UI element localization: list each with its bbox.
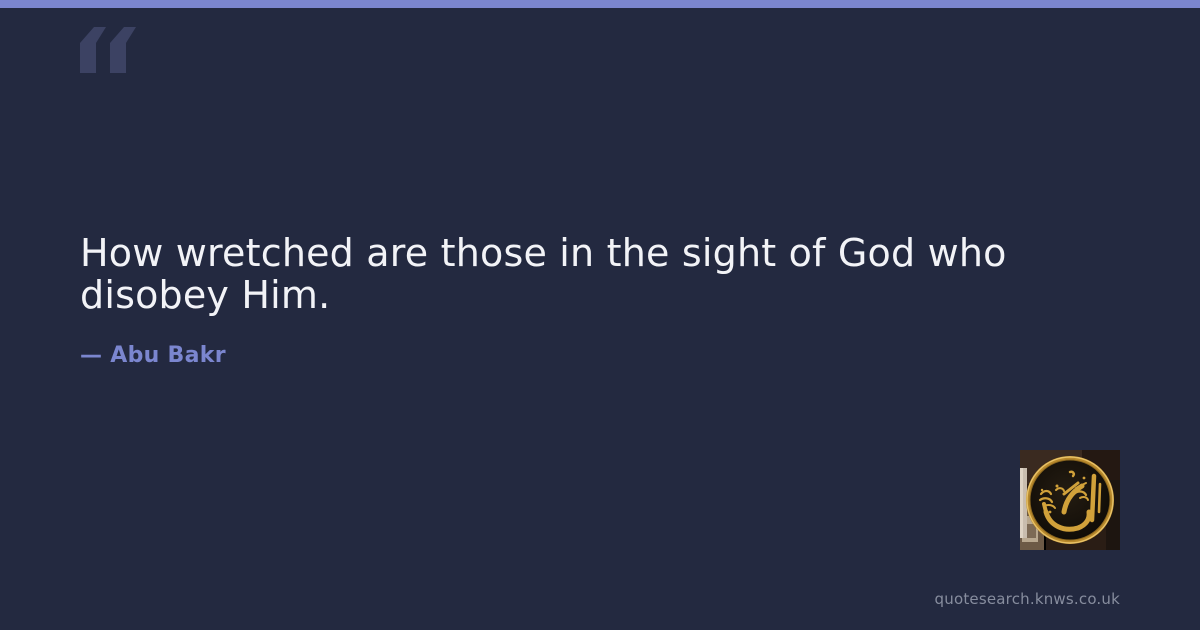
attribution-text: — Abu Bakr	[80, 343, 226, 368]
attribution: — Abu Bakr	[80, 343, 226, 368]
quote-body: How wretched are those in the sight of G…	[80, 232, 1010, 316]
watermark-url: quotesearch.knws.co.uk	[935, 590, 1120, 608]
quote-card: How wretched are those in the sight of G…	[0, 0, 1200, 630]
author-portrait	[1020, 450, 1120, 550]
top-accent-bar	[0, 0, 1200, 8]
open-quote-icon	[80, 27, 136, 87]
quote-text: How wretched are those in the sight of G…	[80, 232, 1010, 316]
